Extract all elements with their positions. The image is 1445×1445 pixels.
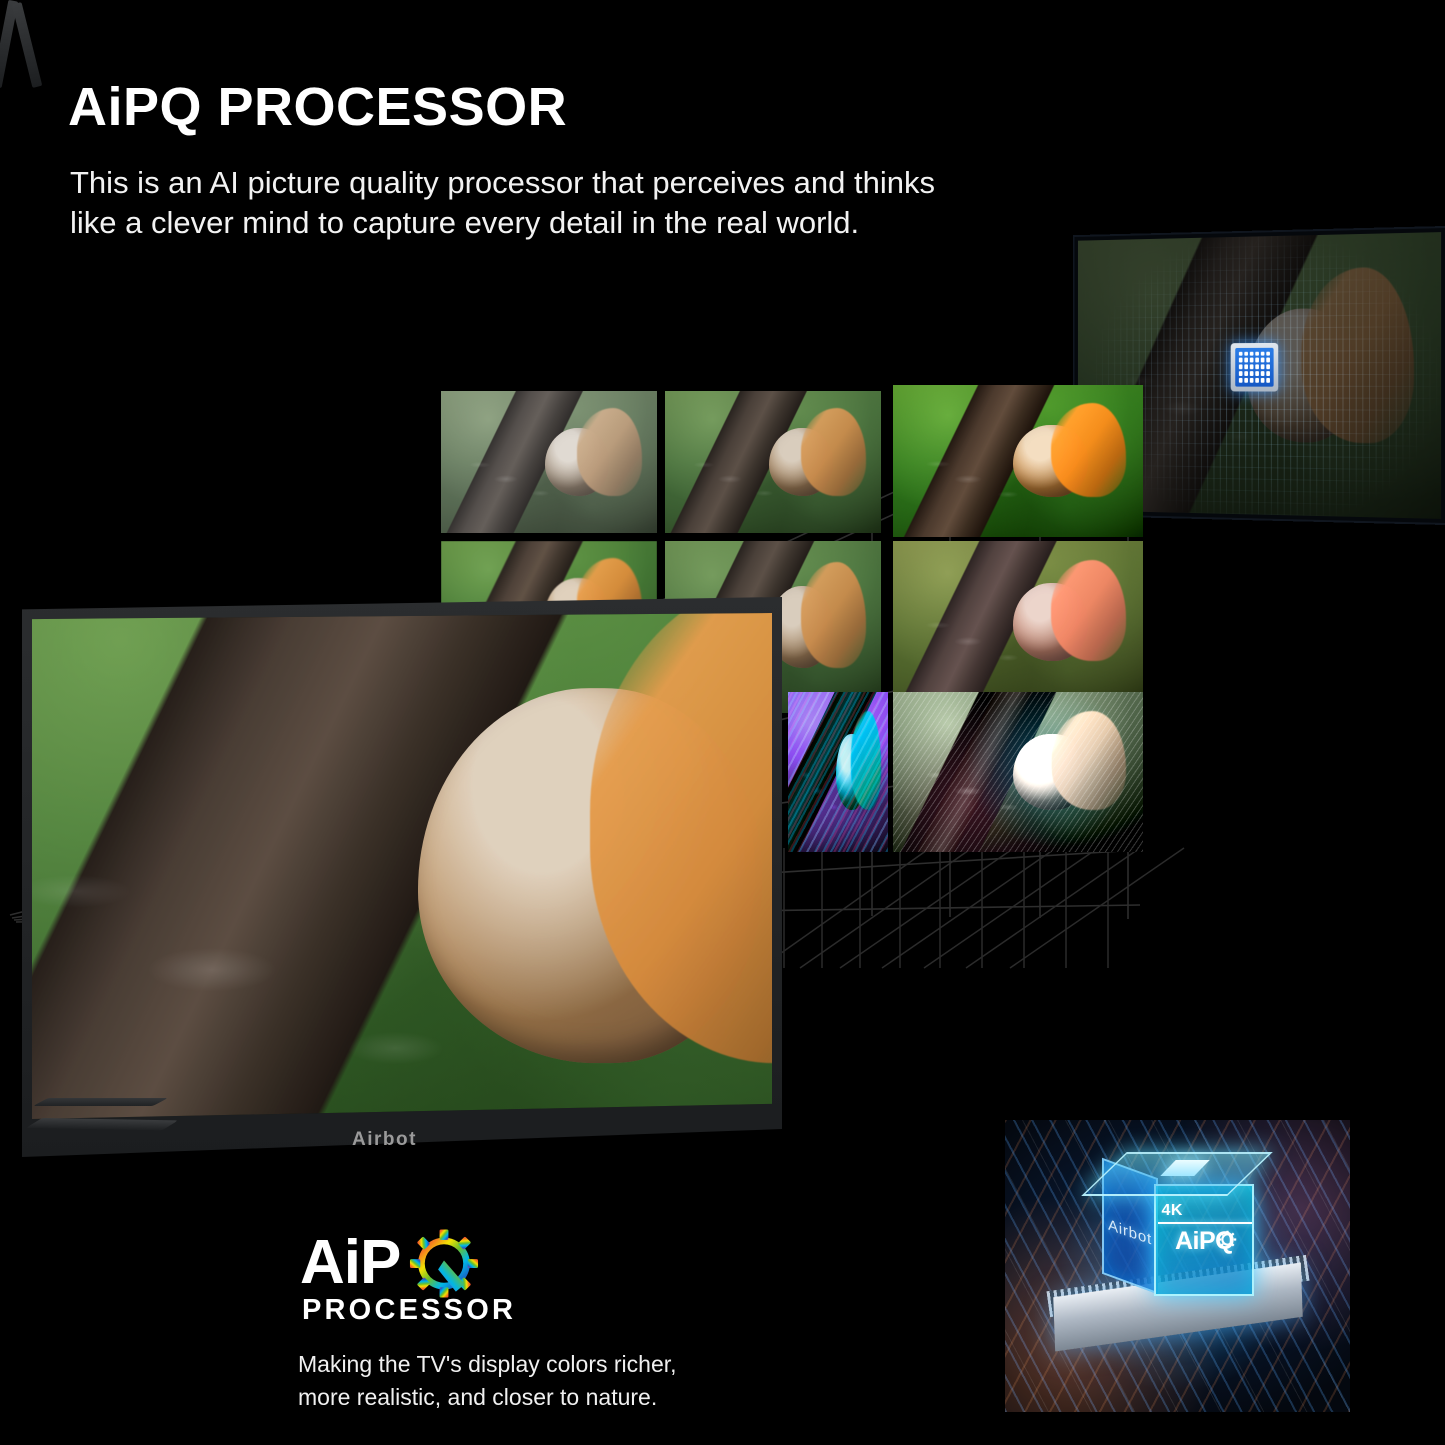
thumbnail-squirrel-normal bbox=[665, 391, 881, 533]
page-description-line-1: This is an AI picture quality processor … bbox=[70, 163, 1050, 203]
page-title: AiPQ PROCESSOR bbox=[68, 76, 567, 138]
squirrel-image bbox=[788, 692, 888, 852]
squirrel-image bbox=[32, 613, 772, 1119]
thumbnail-squirrel-vivid bbox=[893, 385, 1143, 537]
tv-stand-leg-right bbox=[0, 0, 46, 92]
chip-processor-label-wrap: AiPQ bbox=[1175, 1227, 1234, 1256]
ai-chip-icon bbox=[1230, 343, 1278, 392]
aipq-logo-text: AiP bbox=[300, 1232, 400, 1294]
gear-icon bbox=[407, 1228, 481, 1302]
ai-chip-core bbox=[1235, 347, 1273, 386]
aipq-caption: Making the TV's display colors richer, m… bbox=[298, 1348, 758, 1413]
tv-stand-leg-right-b bbox=[12, 2, 43, 88]
chip-cube-label-group: 4K AiPQ bbox=[1158, 1202, 1252, 1256]
chip-resolution-label: 4K bbox=[1158, 1202, 1252, 1220]
poster-canvas: AiPQ PROCESSOR This is an AI picture qua… bbox=[0, 0, 1445, 1445]
thumbnail-squirrel-edge-detect bbox=[893, 692, 1143, 852]
squirrel-image bbox=[441, 391, 657, 533]
page-description: This is an AI picture quality processor … bbox=[70, 163, 1050, 242]
main-tv: Airbot bbox=[22, 597, 782, 1157]
aipq-logo-word: PROCESSOR bbox=[302, 1294, 516, 1327]
chip-hero-image: Airbot 4K AiPQ bbox=[1005, 1120, 1350, 1412]
tv-stand-leg-left-upper bbox=[33, 1098, 168, 1106]
thumbnail-squirrel-magenta-tone bbox=[893, 541, 1143, 703]
perspective-grid-lower-svg bbox=[760, 840, 1220, 970]
squirrel-image bbox=[893, 541, 1143, 703]
gear-icon bbox=[1218, 1230, 1237, 1249]
chip-label-divider bbox=[1158, 1222, 1252, 1224]
squirrel-image bbox=[893, 385, 1143, 537]
squirrel-image bbox=[665, 391, 881, 533]
perspective-grid-lower bbox=[760, 840, 1220, 970]
tv-brand-label: Airbot bbox=[352, 1129, 417, 1151]
chip-cube: Airbot 4K AiPQ bbox=[1098, 1162, 1258, 1312]
thumbnail-squirrel-edge-color bbox=[788, 692, 888, 852]
squirrel-image bbox=[893, 692, 1143, 852]
aipq-caption-line-2: more realistic, and closer to nature. bbox=[298, 1381, 758, 1414]
tv-screen bbox=[32, 613, 772, 1119]
aipq-caption-line-1: Making the TV's display colors richer, bbox=[298, 1348, 758, 1381]
page-description-line-2: like a clever mind to capture every deta… bbox=[70, 203, 1050, 243]
thumbnail-squirrel-desaturated bbox=[441, 391, 657, 533]
